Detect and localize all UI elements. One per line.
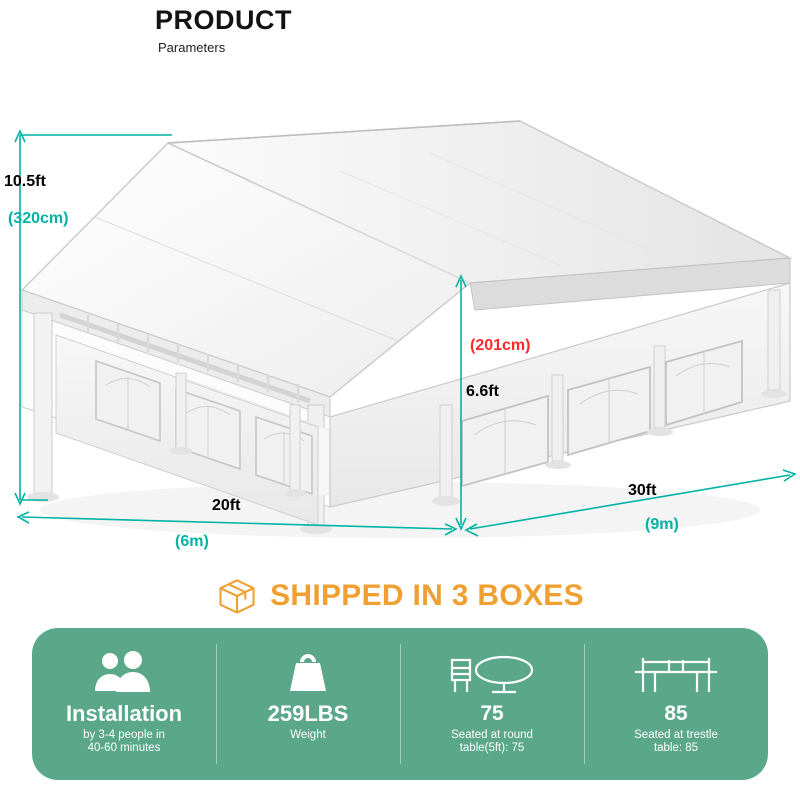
feature-trestle-table-title: 85 [664,702,687,726]
dimension-width-m: (6m) [175,533,209,551]
dimension-eave-ft: 6.6ft [466,383,499,401]
corner-post-left-front [34,313,52,493]
dimension-height-cm: (320cm) [8,210,68,228]
feature-round-table-title: 75 [480,702,503,726]
shipping-banner: SHIPPED IN 3 BOXES [0,572,800,620]
feature-round-table-line2: table(5ft): 75 [460,742,525,755]
feature-installation-line2: 40-60 minutes [88,742,161,755]
dimension-height-ft: 10.5ft [4,173,46,191]
feature-weight: 259LBS Weight [216,628,400,780]
page-header: PRODUCT Parameters [155,4,555,55]
box-icon [216,576,258,616]
feature-installation-line1: by 3-4 people in [77,729,171,742]
feature-trestle-table-line1: Seated at trestle [628,729,724,742]
interior-post-1 [176,373,186,449]
interior-post-2 [290,405,300,491]
feature-weight-title: 259LBS [268,702,349,726]
feature-panel: Installation by 3-4 people in 40-60 minu… [32,628,768,780]
feature-installation: Installation by 3-4 people in 40-60 minu… [32,628,216,780]
feature-weight-line1: Weight [284,729,332,742]
page-title: PRODUCT [155,4,555,36]
feature-round-table-line1: Seated at round [445,729,539,742]
people-icon [92,646,156,698]
feature-installation-title: Installation [66,702,182,726]
feature-trestle-table: 85 Seated at trestle table: 85 [584,628,768,780]
dimension-eave-cm: (201cm) [470,337,530,355]
shipping-label: SHIPPED IN 3 BOXES [270,579,584,613]
dimension-width-ft: 20ft [212,497,240,515]
round-table-icon [446,646,538,698]
page-subtitle: Parameters [158,40,555,55]
product-diagram: 10.5ft (320cm) (201cm) 6.6ft 20ft (6m) 3… [0,105,800,565]
weight-icon [282,646,334,698]
dimension-length-ft: 30ft [628,482,656,500]
tent-illustration [0,105,800,565]
feature-round-table: 75 Seated at round table(5ft): 75 [400,628,584,780]
trestle-table-icon [633,646,719,698]
dimension-length-m: (9m) [645,516,679,534]
feature-trestle-table-line2: table: 85 [654,742,698,755]
